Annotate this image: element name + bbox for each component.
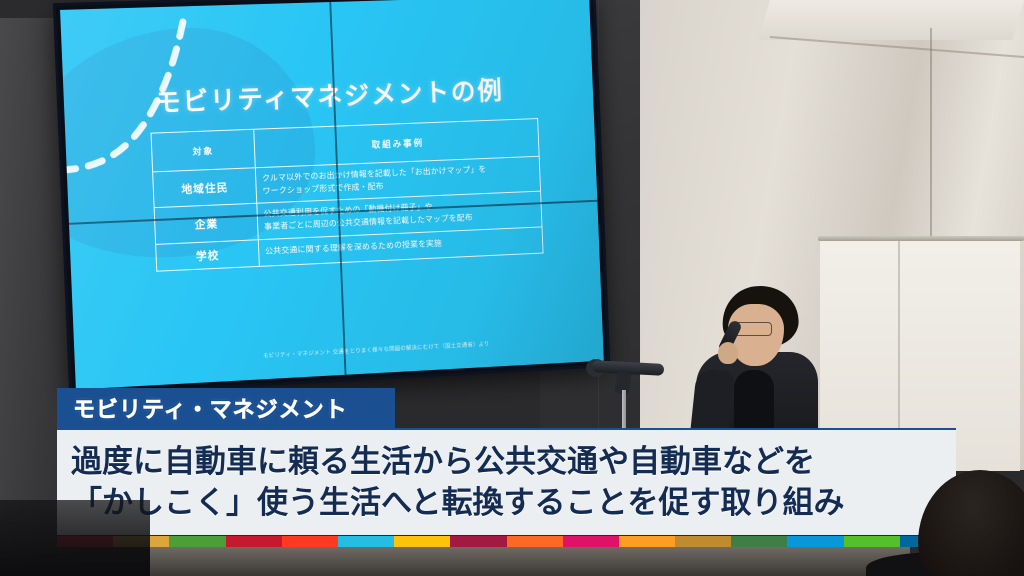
lower-third-title: モビリティ・マネジメント [57, 392, 348, 424]
sdg-color-segment [563, 536, 619, 547]
sdg-color-segment [450, 536, 506, 547]
slide-source-citation: モビリティ・マネジメント 交通をとりまく様々な問題の解決にむけて（国土交通省）よ… [203, 337, 547, 363]
sdg-color-segment [169, 536, 225, 547]
lower-third-title-bar: モビリティ・マネジメント [57, 388, 395, 428]
sdg-color-bar [57, 536, 956, 547]
table-cell-target: 企業 [154, 204, 258, 245]
lower-third-line-2: 「かしこく」使う生活へと転換することを促す取り組み [57, 483, 956, 524]
table-cell-target: 地域住民 [153, 168, 257, 208]
foreground-shadow-left [0, 500, 150, 576]
table-cell-target: 学校 [156, 240, 260, 271]
sdg-color-segment [338, 536, 394, 547]
sdg-color-segment [507, 536, 563, 547]
sdg-color-segment [394, 536, 450, 547]
room-floor [150, 547, 910, 576]
table-header-target: 対象 [151, 129, 255, 172]
screenshot-stage: モビリティマネジメントの例 対象 取組み事例 地域住民 クルマ以外でのお出かけ情… [0, 0, 1024, 576]
presenter-hand [718, 342, 738, 364]
sdg-color-segment [619, 536, 675, 547]
slide-surface: モビリティマネジメントの例 対象 取組み事例 地域住民 クルマ以外でのお出かけ情… [60, 0, 604, 390]
whiteboard-rail [818, 236, 1024, 241]
sdg-color-segment [787, 536, 843, 547]
lower-third-body: 過度に自動車に頼る生活から公共交通や自動車などを 「かしこく」使う生活へと転換す… [57, 428, 956, 535]
slide-table: 対象 取組み事例 地域住民 クルマ以外でのお出かけ情報を記載した「お出かけマップ… [151, 118, 544, 271]
sdg-color-segment [282, 536, 338, 547]
room-ceiling [759, 0, 1024, 40]
sdg-color-segment [675, 536, 731, 547]
presentation-screen: モビリティマネジメントの例 対象 取組み事例 地域住民 クルマ以外でのお出かけ情… [56, 0, 608, 394]
sdg-color-segment [226, 536, 282, 547]
lower-third-line-1: 過度に自動車に頼る生活から公共交通や自動車などを [57, 442, 956, 483]
sdg-color-segment [731, 536, 787, 547]
sdg-color-segment [844, 536, 900, 547]
